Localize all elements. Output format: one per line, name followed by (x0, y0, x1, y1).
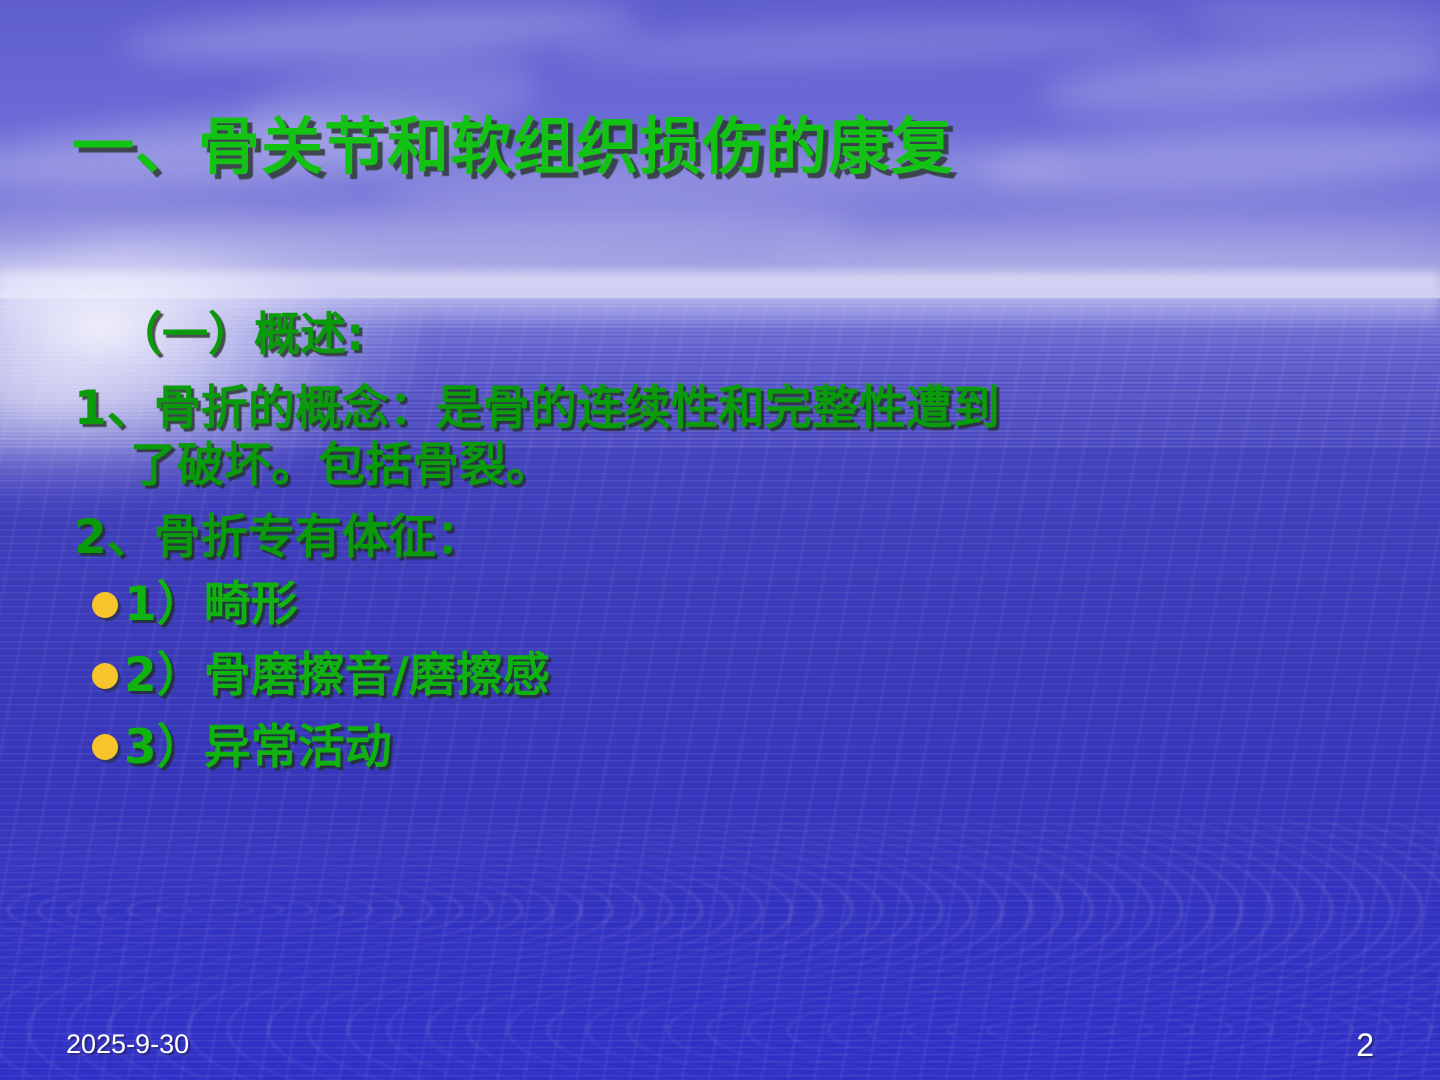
fracture-concept-line-2: 了破坏。包括骨裂。 (74, 437, 1394, 494)
bullet-dot-icon (92, 663, 118, 689)
fracture-signs-heading: 2、骨折专有体征： (74, 509, 1394, 566)
slide-body: （一）概述: 1、骨折的概念：是骨的连续性和完整性遭到 了破坏。包括骨裂。 2、… (74, 306, 1394, 790)
footer-page-number: 2 (1356, 1027, 1374, 1064)
list-item-label: 1）畸形 (124, 576, 298, 633)
list-item: 3）异常活动 (74, 719, 1394, 776)
list-item-label: 3）异常活动 (124, 719, 392, 776)
list-item-label: 2）骨磨擦音/磨擦感 (124, 647, 550, 704)
slide-content: 一、骨关节和软组织损伤的康复 （一）概述: 1、骨折的概念：是骨的连续性和完整性… (0, 0, 1440, 1080)
section-sub-heading: （一）概述: (74, 306, 1394, 362)
slide-canvas: 一、骨关节和软组织损伤的康复 （一）概述: 1、骨折的概念：是骨的连续性和完整性… (0, 0, 1440, 1080)
slide-title: 一、骨关节和软组织损伤的康复 (72, 114, 1372, 181)
list-item: 1）畸形 (74, 576, 1394, 633)
bullet-dot-icon (92, 734, 118, 760)
bullet-dot-icon (92, 592, 118, 618)
list-item: 2）骨磨擦音/磨擦感 (74, 647, 1394, 704)
fracture-concept-paragraph: 1、骨折的概念：是骨的连续性和完整性遭到 了破坏。包括骨裂。 (74, 380, 1394, 495)
footer-date: 2025-9-30 (66, 1029, 189, 1060)
fracture-signs-list: 1）畸形 2）骨磨擦音/磨擦感 3）异常活动 (74, 576, 1394, 776)
fracture-concept-line-1: 1、骨折的概念：是骨的连续性和完整性遭到 (74, 381, 1000, 436)
